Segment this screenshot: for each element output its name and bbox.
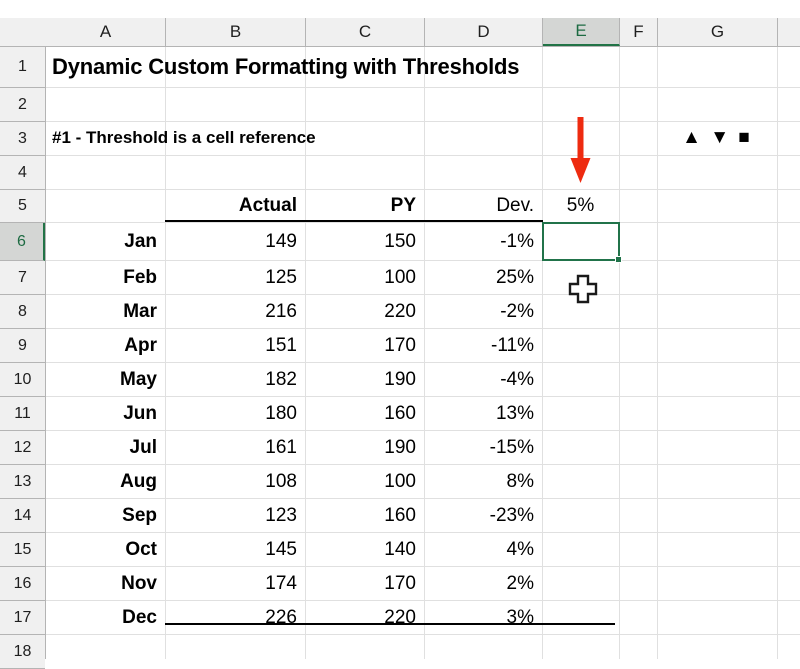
- column-header-e[interactable]: E: [543, 18, 620, 46]
- gridline-h-17: [46, 634, 800, 635]
- row-header-13[interactable]: 13: [0, 465, 45, 499]
- table-row[interactable]: 140: [305, 533, 416, 567]
- row-header-8[interactable]: 8: [0, 295, 45, 329]
- gridline-h-14: [46, 532, 800, 533]
- row-header-7[interactable]: 7: [0, 261, 45, 295]
- threshold-symbols-legend[interactable]: ▲ ▼ ■: [657, 121, 777, 155]
- row-header-11[interactable]: 11: [0, 397, 45, 431]
- table-row[interactable]: -1%: [424, 223, 534, 261]
- gridline-v-d-e: [542, 47, 543, 659]
- table-row[interactable]: 4%: [424, 533, 534, 567]
- table-row[interactable]: 220: [305, 601, 416, 635]
- table-row[interactable]: 8%: [424, 465, 534, 499]
- gridline-h-11: [46, 430, 800, 431]
- table-row[interactable]: Dec: [52, 601, 157, 635]
- table-row[interactable]: 123: [165, 499, 297, 533]
- table-row[interactable]: 149: [165, 223, 297, 261]
- table-row[interactable]: May: [52, 363, 157, 397]
- table-row[interactable]: 150: [305, 223, 416, 261]
- table-row[interactable]: Jul: [52, 431, 157, 465]
- row-header-3[interactable]: 3: [0, 122, 45, 156]
- table-row[interactable]: 100: [305, 465, 416, 499]
- table-header-actual[interactable]: Actual: [165, 189, 297, 222]
- gridline-h-4: [46, 189, 800, 190]
- row-header-16[interactable]: 16: [0, 567, 45, 601]
- table-row[interactable]: 182: [165, 363, 297, 397]
- gridline-v-e-f: [619, 47, 620, 659]
- table-row[interactable]: 151: [165, 329, 297, 363]
- row-header-strip: 1 2 3 4 5 6 7 8 9 10 11 12 13 14 15 16 1…: [0, 47, 46, 659]
- column-header-b[interactable]: B: [166, 18, 306, 46]
- row-header-2[interactable]: 2: [0, 88, 45, 122]
- table-row[interactable]: 216: [165, 295, 297, 329]
- table-row[interactable]: 25%: [424, 261, 534, 295]
- table-row[interactable]: 108: [165, 465, 297, 499]
- column-header-h[interactable]: [778, 18, 800, 46]
- table-row[interactable]: 226: [165, 601, 297, 635]
- table-row[interactable]: 100: [305, 261, 416, 295]
- column-header-strip: A B C D E F G: [0, 18, 800, 47]
- table-row[interactable]: -15%: [424, 431, 534, 465]
- table-row[interactable]: -4%: [424, 363, 534, 397]
- fill-handle[interactable]: [615, 256, 622, 263]
- table-row[interactable]: 190: [305, 431, 416, 465]
- gridline-h-7: [46, 294, 800, 295]
- row-header-17[interactable]: 17: [0, 601, 45, 635]
- table-row[interactable]: 170: [305, 567, 416, 601]
- table-row[interactable]: Jan: [52, 223, 157, 261]
- row-header-14[interactable]: 14: [0, 499, 45, 533]
- row-header-6[interactable]: 6: [0, 223, 45, 261]
- table-row[interactable]: 125: [165, 261, 297, 295]
- gridline-h-13: [46, 498, 800, 499]
- column-header-f[interactable]: F: [620, 18, 658, 46]
- grid-body[interactable]: Dynamic Custom Formatting with Threshold…: [46, 47, 800, 659]
- table-row[interactable]: 160: [305, 499, 416, 533]
- row-header-5[interactable]: 5: [0, 190, 45, 223]
- table-row[interactable]: 174: [165, 567, 297, 601]
- row-header-15[interactable]: 15: [0, 533, 45, 567]
- gridline-h-8: [46, 328, 800, 329]
- table-row[interactable]: 145: [165, 533, 297, 567]
- gridline-h-16: [46, 600, 800, 601]
- table-row[interactable]: -23%: [424, 499, 534, 533]
- row-header-4[interactable]: 4: [0, 156, 45, 190]
- row-header-10[interactable]: 10: [0, 363, 45, 397]
- table-row[interactable]: 3%: [424, 601, 534, 635]
- row-header-1[interactable]: 1: [0, 47, 45, 88]
- table-row[interactable]: 161: [165, 431, 297, 465]
- table-row[interactable]: Feb: [52, 261, 157, 295]
- column-header-a[interactable]: A: [46, 18, 166, 46]
- gridline-h-3: [46, 155, 800, 156]
- column-header-c[interactable]: C: [306, 18, 425, 46]
- table-row[interactable]: 220: [305, 295, 416, 329]
- table-row[interactable]: -11%: [424, 329, 534, 363]
- gridline-v-g-h: [777, 47, 778, 659]
- table-row[interactable]: 2%: [424, 567, 534, 601]
- table-row[interactable]: 190: [305, 363, 416, 397]
- table-header-py[interactable]: PY: [305, 189, 416, 222]
- table-row[interactable]: Apr: [52, 329, 157, 363]
- page-title[interactable]: Dynamic Custom Formatting with Threshold…: [52, 47, 652, 87]
- table-row[interactable]: 180: [165, 397, 297, 431]
- gridline-h-12: [46, 464, 800, 465]
- red-arrow-annotation: [560, 117, 602, 185]
- gridline-h-10: [46, 396, 800, 397]
- column-header-d[interactable]: D: [425, 18, 543, 46]
- gridline-h-1: [46, 87, 800, 88]
- table-row[interactable]: Oct: [52, 533, 157, 567]
- table-row[interactable]: Jun: [52, 397, 157, 431]
- spreadsheet-canvas: A B C D E F G 1 2 3 4 5 6 7 8 9 10 11 12…: [0, 0, 800, 659]
- gridline-h-15: [46, 566, 800, 567]
- excel-plus-cursor-icon: [567, 273, 599, 305]
- table-row[interactable]: 160: [305, 397, 416, 431]
- table-header-dev[interactable]: Dev.: [424, 189, 534, 222]
- table-row[interactable]: Sep: [52, 499, 157, 533]
- selected-cell-e6[interactable]: [542, 222, 620, 261]
- table-row[interactable]: 13%: [424, 397, 534, 431]
- table-row[interactable]: Nov: [52, 567, 157, 601]
- gridline-h-5: [46, 222, 800, 223]
- gridline-h-9: [46, 362, 800, 363]
- threshold-value-cell[interactable]: 5%: [542, 189, 619, 222]
- table-row[interactable]: Mar: [52, 295, 157, 329]
- row-header-12[interactable]: 12: [0, 431, 45, 465]
- row-header-18[interactable]: 18: [0, 635, 45, 669]
- row-header-9[interactable]: 9: [0, 329, 45, 363]
- gridline-h-6: [46, 260, 800, 261]
- column-header-g[interactable]: G: [658, 18, 778, 46]
- table-row[interactable]: 170: [305, 329, 416, 363]
- table-row[interactable]: -2%: [424, 295, 534, 329]
- section-subtitle[interactable]: #1 - Threshold is a cell reference: [52, 121, 532, 155]
- table-row[interactable]: Aug: [52, 465, 157, 499]
